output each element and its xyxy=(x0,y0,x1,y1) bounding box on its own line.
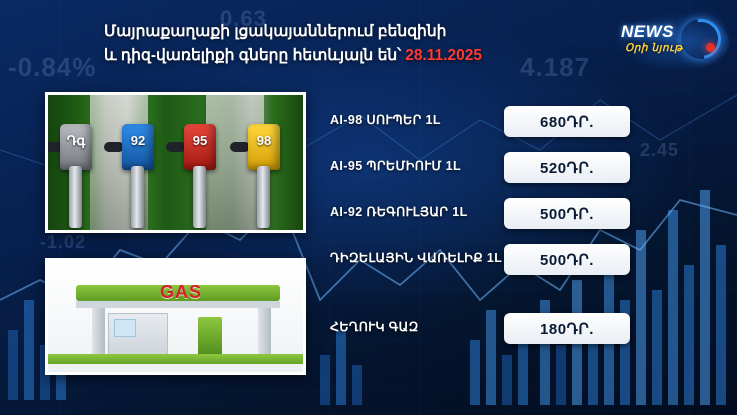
ghost-number: 2.45 xyxy=(640,140,679,161)
station-column-right xyxy=(258,308,271,356)
price-value: 500ԴՐ. xyxy=(504,198,630,229)
station-column-left xyxy=(92,308,105,356)
price-row: ՀԵՂՈՒԿ ԳԱԶ 180ԴՐ. xyxy=(330,313,630,344)
station-pump xyxy=(198,317,222,357)
nozzle-label: 98 xyxy=(244,133,284,148)
nozzle-label: 95 xyxy=(180,133,220,148)
logo-name: NEWS xyxy=(621,22,674,42)
price-value: 180ԴՐ. xyxy=(504,313,630,344)
price-label: AI-98 ՍՈՒՊԵՐ 1L xyxy=(330,112,441,127)
nozzle-spout xyxy=(131,166,144,228)
price-row: AI-98 ՍՈՒՊԵՐ 1L 680ԴՐ. xyxy=(330,106,630,137)
station-sign-text: GAS xyxy=(160,282,202,303)
price-label: ՀԵՂՈՒԿ ԳԱԶ xyxy=(330,319,419,334)
price-label: ԴԻԶԵԼԱՅԻՆ ՎԱՌԵԼԻՔ 1L xyxy=(330,250,502,265)
fuel-nozzles-photo: Դգ 92 95 98 xyxy=(45,92,306,233)
nozzle-98: 98 xyxy=(244,124,284,228)
ghost-number: -1.02 xyxy=(40,232,86,253)
nozzle-92: 92 xyxy=(118,124,158,228)
dot-icon xyxy=(706,43,715,52)
station-ground xyxy=(48,354,303,364)
nozzle-diesel: Դգ xyxy=(56,124,96,228)
station-window xyxy=(114,319,136,337)
infographic-stage: -0.84% 0.63 4.187 2.45 -1.02 Մայրաքաղաքի… xyxy=(0,0,737,415)
price-label: AI-95 ՊՐԵՄԻՈՒՄ 1L xyxy=(330,158,461,173)
nozzle-label: Դգ xyxy=(56,133,96,149)
price-row: AI-92 ՌԵԳՈՒԼՅԱՐ 1L 500ԴՐ. xyxy=(330,198,630,229)
nozzle-label: 92 xyxy=(118,133,158,148)
headline-date: 28.11.2025 xyxy=(405,47,482,64)
channel-logo[interactable]: NEWS Օրի նյութ xyxy=(619,18,723,66)
gas-station-photo: GAS xyxy=(45,258,306,375)
price-value: 500ԴՐ. xyxy=(504,244,630,275)
headline: Մայրաքաղաքի լցակայաններում բենզինի և դիզ… xyxy=(104,20,524,68)
price-value: 680ԴՐ. xyxy=(504,106,630,137)
headline-line-2-text: և դիզ-վառելիքի գները հետևյալն են՝ xyxy=(104,47,401,64)
price-value: 520ԴՐ. xyxy=(504,152,630,183)
price-row: ԴԻԶԵԼԱՅԻՆ ՎԱՌԵԼԻՔ 1L 500ԴՐ. xyxy=(330,244,630,275)
headline-line-1: Մայրաքաղաքի լցակայաններում բենզինի xyxy=(104,20,524,44)
ghost-number: 4.187 xyxy=(520,52,590,83)
nozzle-95: 95 xyxy=(180,124,220,228)
price-row: AI-95 ՊՐԵՄԻՈՒՄ 1L 520ԴՐ. xyxy=(330,152,630,183)
price-label: AI-92 ՌԵԳՈՒԼՅԱՐ 1L xyxy=(330,204,468,219)
ghost-number: -0.84% xyxy=(8,52,96,83)
nozzle-spout xyxy=(257,166,270,228)
nozzle-spout xyxy=(69,166,82,228)
nozzle-spout xyxy=(193,166,206,228)
logo-tagline: Օրի նյութ xyxy=(625,42,682,54)
price-list: AI-98 ՍՈՒՊԵՐ 1L 680ԴՐ. AI-95 ՊՐԵՄԻՈՒՄ 1L… xyxy=(330,106,630,359)
headline-line-2: և դիզ-վառելիքի գները հետևյալն են՝ 28.11.… xyxy=(104,44,524,68)
